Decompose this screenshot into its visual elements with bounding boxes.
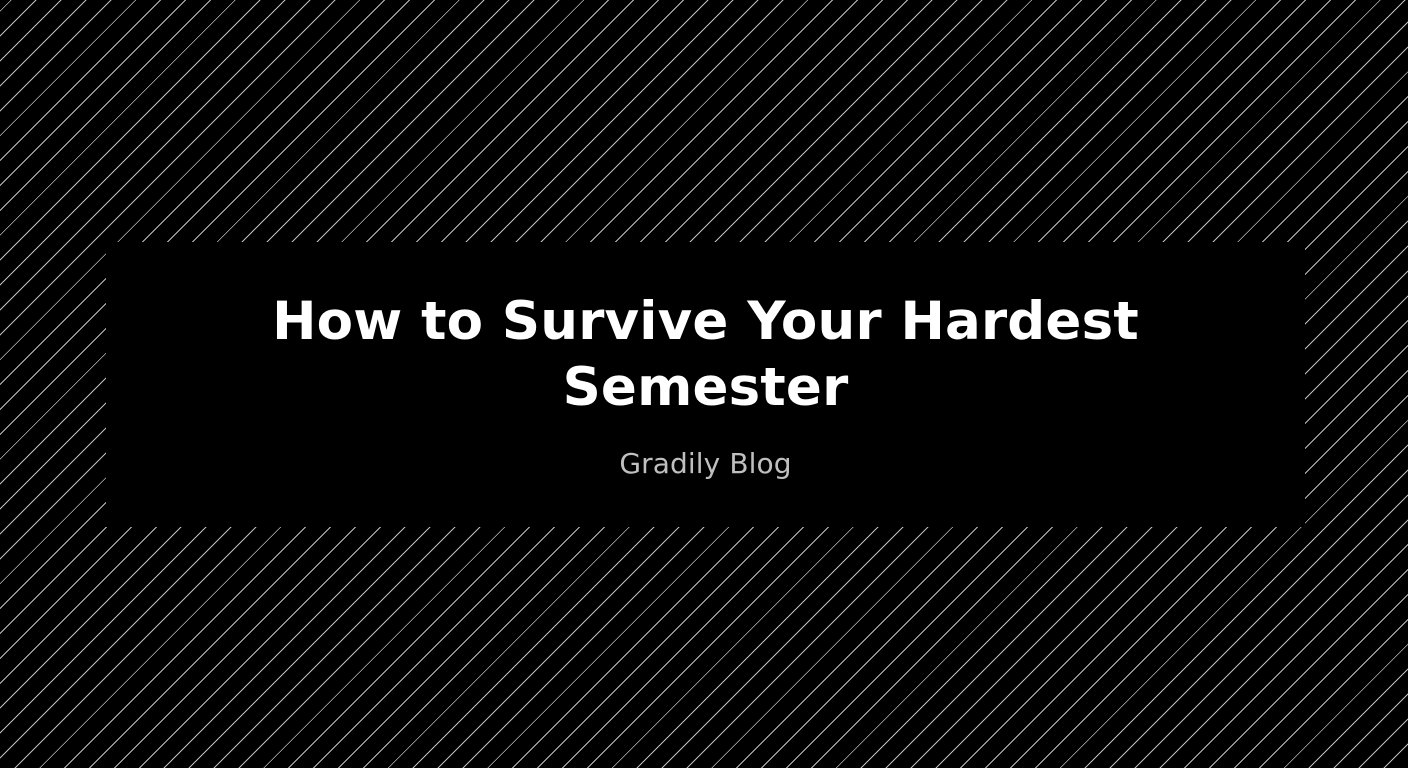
- title-card-canvas: How to Survive Your Hardest Semester Gra…: [0, 0, 1408, 768]
- page-title: How to Survive Your Hardest Semester: [266, 289, 1146, 421]
- page-subtitle: Gradily Blog: [146, 447, 1265, 481]
- title-panel: How to Survive Your Hardest Semester Gra…: [106, 242, 1305, 527]
